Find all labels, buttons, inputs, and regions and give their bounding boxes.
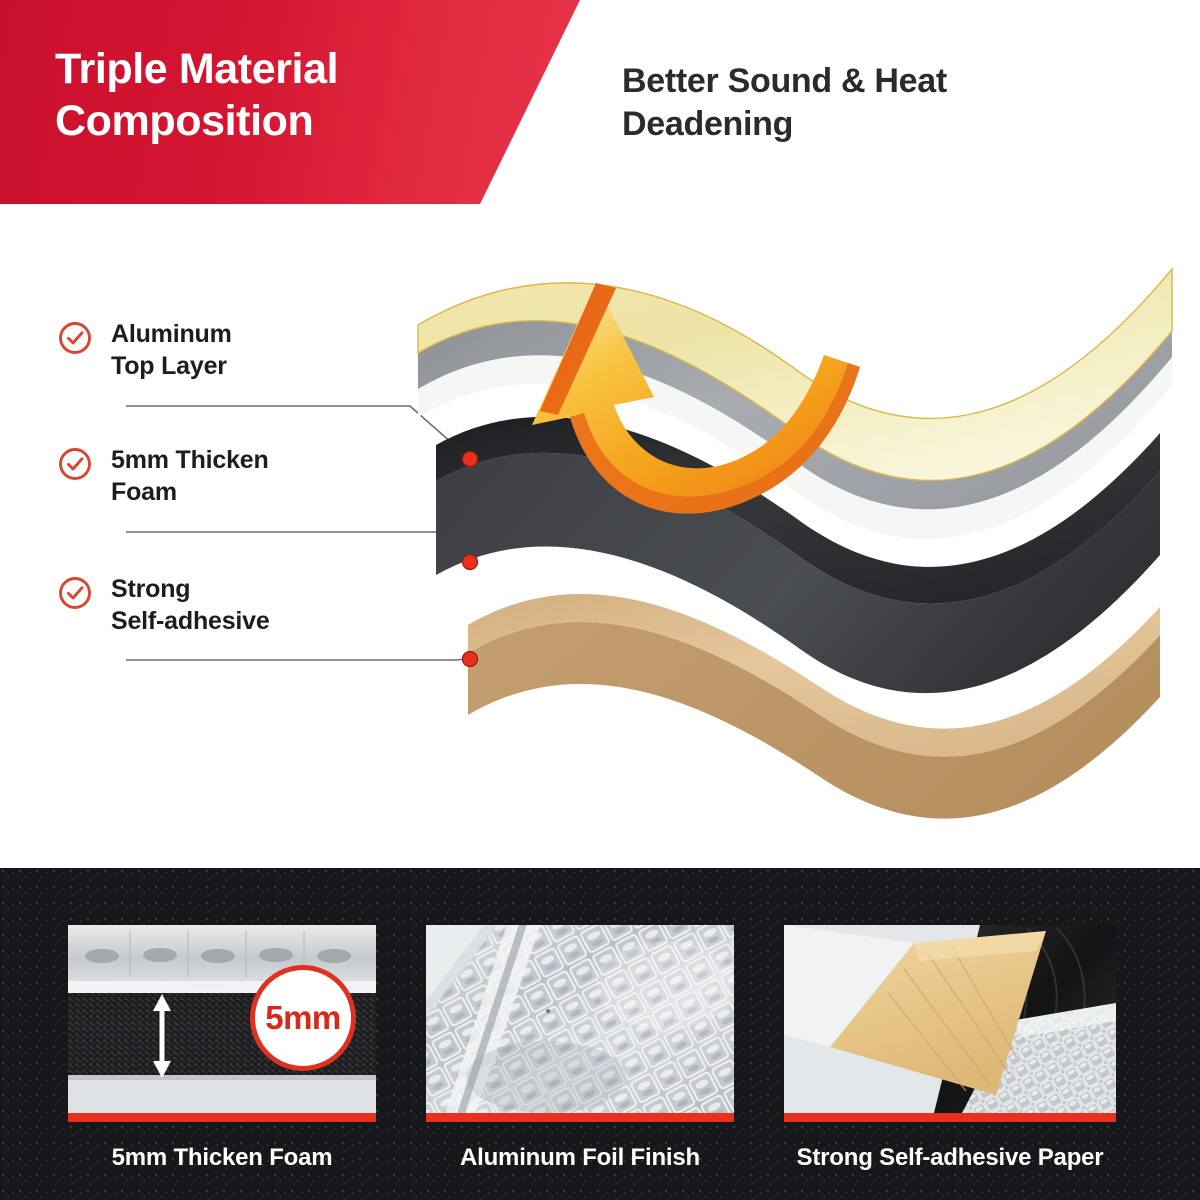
check-circle-icon bbox=[58, 447, 92, 481]
thickness-badge: 5mm bbox=[250, 965, 356, 1071]
card-accent-bar bbox=[784, 1113, 1116, 1122]
feature-label: Aluminum Top Layer bbox=[111, 318, 232, 382]
foam-cross-section-photo: 5mm bbox=[68, 925, 376, 1113]
page-subtitle: Better Sound & Heat Deadening bbox=[622, 60, 1142, 146]
layer-marker-dot-adhesive bbox=[463, 652, 478, 667]
layer-stack-diagram bbox=[400, 235, 1200, 855]
product-card-foam[interactable]: 5mm 5mm Thicken Foam bbox=[68, 925, 376, 1172]
card-caption: Strong Self-adhesive Paper bbox=[784, 1144, 1116, 1172]
card-accent-bar bbox=[426, 1113, 734, 1122]
adhesive-backing-paper-photo bbox=[784, 925, 1116, 1113]
feature-item-strong-self-adhesive: Strong Self-adhesive bbox=[58, 573, 270, 637]
feature-item-aluminum-top-layer: Aluminum Top Layer bbox=[58, 318, 232, 382]
adhesive-photo-graphic bbox=[784, 925, 1116, 1113]
layer-marker-dot-aluminum bbox=[463, 452, 478, 467]
feature-label: 5mm Thicken Foam bbox=[111, 444, 269, 508]
foil-photo-graphic bbox=[426, 925, 734, 1113]
aluminum-foil-texture-photo bbox=[426, 925, 734, 1113]
infographic-page: Triple Material Composition Better Sound… bbox=[0, 0, 1200, 1200]
card-accent-bar bbox=[68, 1113, 376, 1122]
layer-marker-dot-foam bbox=[463, 555, 478, 570]
product-card-adhesive[interactable]: Strong Self-adhesive Paper bbox=[784, 925, 1116, 1172]
card-caption: 5mm Thicken Foam bbox=[68, 1144, 376, 1172]
page-title: Triple Material Composition bbox=[55, 43, 338, 148]
product-card-foil[interactable]: Aluminum Foil Finish bbox=[426, 925, 734, 1172]
feature-label: Strong Self-adhesive bbox=[111, 573, 270, 637]
top-section: Triple Material Composition Better Sound… bbox=[0, 0, 1200, 868]
check-circle-icon bbox=[58, 321, 92, 355]
check-circle-icon bbox=[58, 576, 92, 610]
feature-item-5mm-thicken-foam: 5mm Thicken Foam bbox=[58, 444, 269, 508]
card-caption: Aluminum Foil Finish bbox=[426, 1144, 734, 1172]
